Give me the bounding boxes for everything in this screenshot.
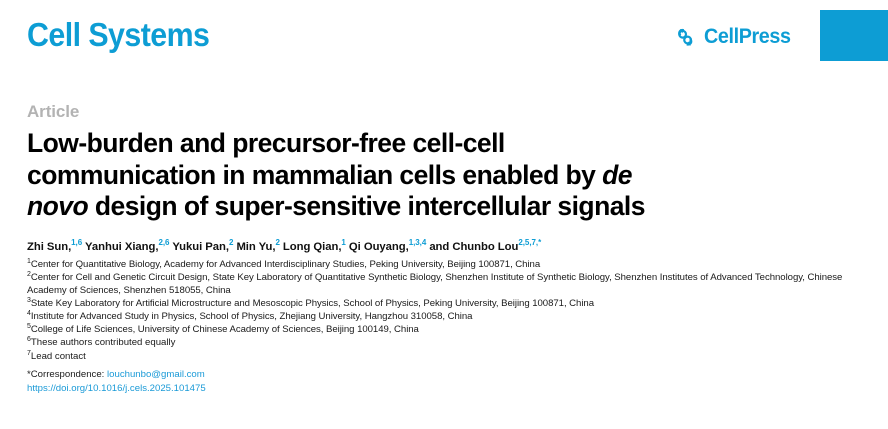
cellpress-linked-loops-icon — [674, 26, 697, 49]
author-note-text: These authors contributed equally — [31, 337, 176, 348]
article-header: Article Low-burden and precursor-free ce… — [0, 102, 888, 396]
affiliation-text: Center for Quantitative Biology, Academy… — [31, 259, 540, 270]
affiliation-text: Center for Cell and Genetic Circuit Desi… — [27, 272, 842, 296]
affiliation-text: Institute for Advanced Study in Physics,… — [31, 311, 473, 322]
masthead-accent-block — [820, 10, 888, 61]
cellpress-logo[interactable]: CellPress — [674, 25, 796, 49]
author-affil-sup-2: 2,6 — [158, 238, 169, 247]
journal-masthead: Cell Systems CellPress — [0, 0, 888, 72]
affiliation-text: State Key Laboratory for Artificial Micr… — [31, 298, 594, 309]
author-affil-sup-7: 2,5,7,* — [518, 238, 541, 247]
author-note-text: Lead contact — [31, 351, 86, 362]
doi-link[interactable]: https://doi.org/10.1016/j.cels.2025.1014… — [27, 382, 861, 396]
author-list: Zhi Sun,1,6 Yanhui Xiang,2,6 Yukui Pan,2… — [27, 241, 861, 253]
article-type-kicker: Article — [27, 102, 861, 122]
affiliation-list: 1Center for Quantitative Biology, Academ… — [27, 258, 861, 337]
affiliation-item: 1Center for Quantitative Biology, Academ… — [27, 258, 861, 271]
author-name-6[interactable]: Qi Ouyang, — [346, 241, 409, 253]
affiliation-item: 4Institute for Advanced Study in Physics… — [27, 310, 861, 323]
author-note-item: 7Lead contact — [27, 350, 861, 363]
affiliation-item: 3State Key Laboratory for Artificial Mic… — [27, 297, 861, 310]
journal-title[interactable]: Cell Systems — [27, 16, 209, 54]
author-name-5[interactable]: Long Qian, — [280, 241, 342, 253]
author-affil-sup-1: 1,6 — [71, 238, 82, 247]
author-name-3[interactable]: Yukui Pan, — [169, 241, 229, 253]
correspondence-label: *Correspondence: — [27, 369, 104, 380]
affiliation-item: 2Center for Cell and Genetic Circuit Des… — [27, 271, 861, 297]
title-part-2: design of super-sensitive intercellular … — [88, 191, 645, 221]
title-part-1: Low-burden and precursor-free cell-cell … — [27, 128, 602, 190]
correspondence-line: *Correspondence: louchunbo@gmail.com — [27, 368, 861, 382]
author-name-1[interactable]: Zhi Sun, — [27, 241, 71, 253]
cellpress-wordmark: CellPress — [704, 25, 791, 49]
author-name-7[interactable]: and Chunbo Lou — [426, 241, 518, 253]
author-name-2[interactable]: Yanhui Xiang, — [82, 241, 158, 253]
correspondence-email-link[interactable]: louchunbo@gmail.com — [107, 369, 205, 380]
author-name-4[interactable]: Min Yu, — [233, 241, 275, 253]
author-notes: 6These authors contributed equally 7Lead… — [27, 336, 861, 362]
article-title: Low-burden and precursor-free cell-cell … — [27, 128, 687, 223]
affiliation-text: College of Life Sciences, University of … — [31, 324, 419, 335]
affiliation-item: 5College of Life Sciences, University of… — [27, 323, 861, 336]
author-affil-sup-6: 1,3,4 — [409, 238, 427, 247]
author-note-item: 6These authors contributed equally — [27, 336, 861, 349]
